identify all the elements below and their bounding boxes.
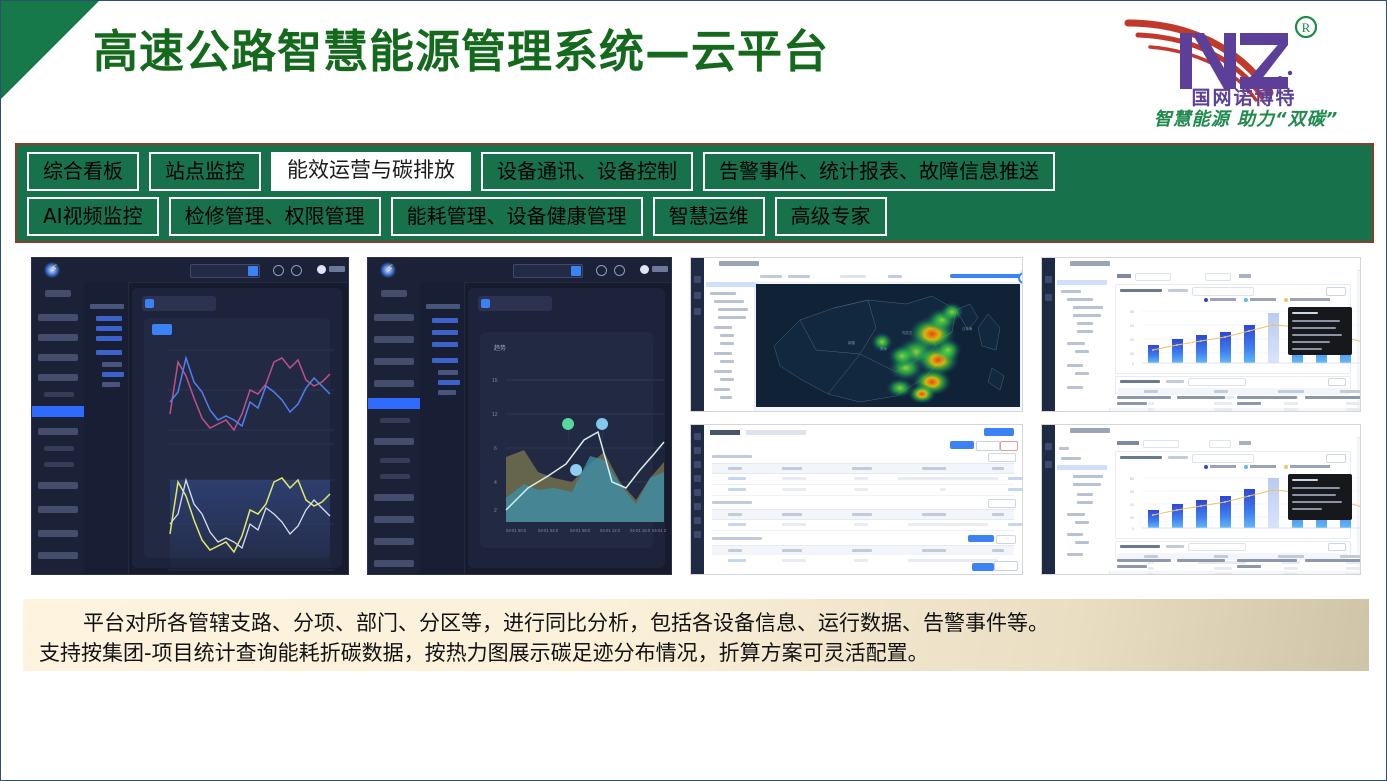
sidebar-item-4[interactable] xyxy=(38,374,78,381)
chart-export-button[interactable] xyxy=(1326,287,1346,296)
company-logo: R 国网诺博特 智慧能源 助力“双碳” xyxy=(1120,5,1370,131)
chart-legend xyxy=(1204,298,1344,302)
svg-text:04-01 2: 04-01 2 xyxy=(652,528,667,533)
slide-root: 高速公路智慧能源管理系统—云平台 R xyxy=(0,0,1387,781)
sidebar-subitem-2[interactable] xyxy=(44,446,74,451)
bar-top-rail xyxy=(1042,258,1055,411)
bolt-icon: ⚡ xyxy=(386,264,394,275)
table-title xyxy=(710,430,740,435)
svg-text:80: 80 xyxy=(1130,477,1134,481)
bar-top-body: 8060 40200 xyxy=(1109,270,1357,408)
svg-text:60: 60 xyxy=(1130,490,1134,494)
dash2-search-input[interactable] xyxy=(513,264,583,278)
tree-l13[interactable] xyxy=(720,396,732,399)
dash2-sidebar xyxy=(368,282,421,574)
dash2-content-tab[interactable] xyxy=(478,296,552,311)
tree-l9[interactable] xyxy=(720,360,734,363)
nav-tab-smart-ops[interactable]: 智慧运维 xyxy=(653,197,765,236)
svg-text:2: 2 xyxy=(494,508,497,514)
screenshot-energy-bar-top[interactable]: 8060 40200 xyxy=(1041,257,1361,412)
detail-table-card xyxy=(1115,376,1351,394)
sidebar-subitem-3[interactable] xyxy=(44,462,74,467)
nav-tab-ai-video-monitoring[interactable]: AI视频监控 xyxy=(27,197,159,236)
map-toolbar xyxy=(754,270,1020,283)
screenshot-energy-bar-bottom[interactable]: 8060 40200 xyxy=(1041,424,1361,575)
tree-leaf-selected[interactable] xyxy=(438,380,460,385)
footer-close[interactable] xyxy=(994,561,1018,571)
svg-text:04-01 04:0: 04-01 04:0 xyxy=(538,528,559,533)
map-site-tree xyxy=(704,270,755,411)
bar-top-title xyxy=(1070,261,1110,266)
svg-text:60: 60 xyxy=(1130,324,1134,328)
rail-icon-3 xyxy=(694,308,701,315)
svg-text:内蒙古: 内蒙古 xyxy=(902,330,913,335)
sidebar-item-1[interactable] xyxy=(38,314,78,321)
table-row[interactable] xyxy=(712,485,1014,496)
bar-bottom-title xyxy=(1070,428,1110,433)
nav-tab-energy-efficiency-carbon[interactable]: 能效运营与碳排放 xyxy=(271,152,471,191)
tree-l4[interactable] xyxy=(1073,483,1101,486)
filter-select-2[interactable] xyxy=(1209,440,1231,448)
avatar[interactable] xyxy=(640,265,649,274)
search-icon[interactable] xyxy=(273,265,284,276)
svg-text:15: 15 xyxy=(492,378,498,384)
dash2-device-tree xyxy=(420,282,465,574)
chart-export-button[interactable] xyxy=(1326,454,1346,463)
tree-l5[interactable] xyxy=(1077,322,1093,325)
sidebar-subitem-3[interactable] xyxy=(380,474,410,479)
tree-l7[interactable] xyxy=(1067,342,1085,345)
nav-tab-device-comm-control[interactable]: 设备通讯、设备控制 xyxy=(481,152,693,191)
filter-label xyxy=(1117,441,1139,445)
tree-leaf-1[interactable] xyxy=(102,362,122,367)
bar-chart-card: 8060 40200 xyxy=(1115,284,1351,374)
table-header-row xyxy=(712,545,1014,555)
svg-text:20: 20 xyxy=(1130,352,1134,356)
dash2-topbar: ⚡ xyxy=(368,258,671,283)
caption-line-1: 平台对所各管辖支路、分项、部门、分区等，进行同比分析，包括各设备信息、运行数据、… xyxy=(39,608,1353,638)
map-slider-track[interactable] xyxy=(950,274,1023,278)
sidebar-item-8[interactable] xyxy=(38,530,78,537)
summary-footer xyxy=(1117,396,1349,406)
dash-username xyxy=(329,266,345,272)
search-icon[interactable] xyxy=(596,265,607,276)
sidebar-item-7[interactable] xyxy=(374,516,414,523)
screenshot-gallery: ⚡ xyxy=(31,257,1361,582)
svg-text:0: 0 xyxy=(1132,362,1134,366)
avatar[interactable] xyxy=(317,265,326,274)
sidebar-item-6[interactable] xyxy=(38,482,78,489)
tree-node-3[interactable] xyxy=(432,342,458,347)
detail-table-card xyxy=(1115,541,1351,557)
tree-node-2[interactable] xyxy=(96,326,122,331)
line-chart-upper xyxy=(144,340,344,460)
tree-l6[interactable] xyxy=(1077,501,1093,504)
group3-query[interactable] xyxy=(968,535,994,542)
btn-cancel[interactable] xyxy=(976,441,1000,451)
rail-icon-3 xyxy=(694,461,701,468)
filter-label xyxy=(1117,274,1131,278)
sidebar-item-2[interactable] xyxy=(38,334,78,341)
sidebar-item-selected[interactable] xyxy=(32,406,84,417)
tree-l10[interactable] xyxy=(1075,541,1089,544)
corner-stripe-bottom-right xyxy=(1288,704,1380,774)
tree-l12[interactable] xyxy=(714,388,730,391)
nav-row-2: AI视频监控 检修管理、权限管理 能耗管理、设备健康管理 智慧运维 高级专家 xyxy=(23,197,1366,236)
sidebar-item-6[interactable] xyxy=(374,494,414,501)
tree-l8[interactable] xyxy=(1075,350,1089,353)
tree-selected[interactable] xyxy=(1057,465,1107,470)
tree-l8[interactable] xyxy=(1075,521,1089,524)
sidebar-item-5[interactable] xyxy=(38,428,78,435)
caption-box: 平台对所各管辖支路、分项、部门、分区等，进行同比分析，包括各设备信息、运行数据、… xyxy=(23,599,1369,671)
map-title xyxy=(719,261,759,266)
rail-icon-1 xyxy=(694,276,701,283)
dash-device-tree xyxy=(84,282,129,574)
svg-text:4: 4 xyxy=(494,480,497,486)
svg-text:青海: 青海 xyxy=(880,346,887,351)
svg-text:80: 80 xyxy=(1130,310,1134,314)
tree-l5[interactable] xyxy=(714,326,732,329)
sidebar-item-5[interactable] xyxy=(374,438,414,445)
tree-node-2[interactable] xyxy=(432,330,458,335)
screenshot-carbon-heatmap[interactable]: 新疆青海 内蒙古日本海 xyxy=(690,257,1023,412)
tree-l11[interactable] xyxy=(1067,553,1083,556)
filter-select-2[interactable] xyxy=(1205,273,1231,281)
table-primary-button[interactable] xyxy=(984,428,1014,436)
table-search-input[interactable] xyxy=(1188,378,1246,386)
tree-node-4[interactable] xyxy=(96,350,122,355)
summary-footer xyxy=(1117,559,1349,569)
bolt-icon: ⚡ xyxy=(50,264,58,275)
svg-text:04-01 12:0: 04-01 12:0 xyxy=(600,528,621,533)
rail-icon-2 xyxy=(694,292,701,299)
tree-root[interactable] xyxy=(426,304,460,309)
chart-search-input[interactable] xyxy=(1192,287,1254,296)
chart-search-input[interactable] xyxy=(1192,454,1254,463)
dash-search-input[interactable] xyxy=(190,264,260,278)
sidebar-item-4[interactable] xyxy=(374,380,414,387)
chart-tooltip xyxy=(1288,307,1352,355)
svg-text:0: 0 xyxy=(1132,527,1134,531)
sidebar-subitem-1[interactable] xyxy=(44,392,74,397)
svg-text:趋势: 趋势 xyxy=(494,344,506,352)
rail-icon-4 xyxy=(694,475,701,482)
china-heatmap[interactable]: 新疆青海 内蒙古日本海 xyxy=(756,284,1020,407)
table-row[interactable] xyxy=(712,520,1014,531)
table-panel xyxy=(704,425,1022,574)
filter-label-2 xyxy=(1239,274,1251,278)
filter-label-2 xyxy=(1239,441,1251,445)
rail-icon-7 xyxy=(694,517,701,524)
tree-l7[interactable] xyxy=(1067,513,1085,516)
bar-bottom-rail xyxy=(1042,425,1055,574)
table-search-input[interactable] xyxy=(1188,543,1246,551)
tree-l3[interactable] xyxy=(718,308,748,311)
tree-l9[interactable] xyxy=(1067,364,1083,367)
rail-icon-2 xyxy=(1045,461,1052,468)
bell-icon[interactable] xyxy=(291,265,302,276)
sidebar-item-3[interactable] xyxy=(38,354,78,361)
btn-save[interactable] xyxy=(950,441,974,449)
tree-l3[interactable] xyxy=(1073,475,1103,478)
tree-l1[interactable] xyxy=(1061,290,1081,293)
tree-l11[interactable] xyxy=(720,378,734,381)
dash-topbar: ⚡ xyxy=(32,258,348,283)
tree-leaf-selected[interactable] xyxy=(102,372,124,377)
tree-node-1[interactable] xyxy=(96,316,122,321)
nav-tab-comprehensive-board[interactable]: 综合看板 xyxy=(27,152,139,191)
bar-chart-card: 8060 40200 xyxy=(1115,451,1351,539)
bar-top-tree xyxy=(1055,270,1110,411)
tree-selected[interactable] xyxy=(706,282,758,287)
logo-slogan: 智慧能源 助力“双碳” xyxy=(1126,105,1366,131)
map-slider-handle[interactable] xyxy=(1018,272,1023,284)
sidebar-item-8[interactable] xyxy=(374,538,414,545)
caption-line-2: 支持按集团-项目统计查询能耗折碳数据，按热力图展示碳足迹分布情况，折算方案可灵活… xyxy=(39,638,1353,668)
sidebar-item-7[interactable] xyxy=(38,506,78,513)
tree-leaf-2[interactable] xyxy=(438,390,456,395)
dash-chart-card xyxy=(144,318,330,558)
rail-icon-2 xyxy=(694,447,701,454)
screenshot-dark-dashboard-lines[interactable]: ⚡ xyxy=(31,257,349,575)
sidebar-subitem-1[interactable] xyxy=(380,418,410,423)
tree-l6[interactable] xyxy=(720,334,734,337)
rail-icon-2 xyxy=(1045,294,1052,301)
area-chart-carbon: 趋势 1512 64 2 xyxy=(480,332,672,546)
nav-tab-alarm-report-fault[interactable]: 告警事件、统计报表、故障信息推送 xyxy=(703,152,1055,191)
dash-sidebar xyxy=(32,282,85,574)
table-left-rail xyxy=(691,425,704,574)
tree-l1[interactable] xyxy=(1061,457,1081,460)
svg-text:40: 40 xyxy=(1130,338,1134,342)
tree-node-3[interactable] xyxy=(96,336,122,341)
rail-icon-5 xyxy=(694,489,701,496)
detail-table-header xyxy=(1118,388,1348,395)
tree-l9[interactable] xyxy=(1067,533,1083,536)
tree-l3[interactable] xyxy=(1073,306,1103,309)
group2-add[interactable] xyxy=(988,499,1016,508)
table-row[interactable] xyxy=(712,474,1014,485)
nav-tab-energy-device-health[interactable]: 能耗管理、设备健康管理 xyxy=(391,197,643,236)
tree-root[interactable] xyxy=(90,304,124,309)
svg-text:40: 40 xyxy=(1130,503,1134,507)
tree-l4[interactable] xyxy=(1073,314,1101,317)
svg-text:04-01 00:0: 04-01 00:0 xyxy=(506,528,527,533)
tree-l4[interactable] xyxy=(718,316,746,319)
screenshot-col-bars: 8060 40200 xyxy=(1041,257,1361,582)
screenshot-col-map-table: 新疆青海 内蒙古日本海 xyxy=(690,257,1023,582)
rail-icon-8 xyxy=(694,531,701,538)
sidebar-item-selected[interactable] xyxy=(368,398,420,409)
tree-l8[interactable] xyxy=(714,352,732,355)
bar-bottom-tree xyxy=(1055,437,1110,574)
nav-band: 综合看板 站点监控 能效运营与碳排放 设备通讯、设备控制 告警事件、统计报表、故… xyxy=(15,143,1374,243)
tree-l0[interactable] xyxy=(1059,447,1069,450)
tree-l10[interactable] xyxy=(714,370,732,373)
table-row[interactable] xyxy=(1118,408,1348,412)
map-left-rail xyxy=(691,258,704,411)
slide-header: 高速公路智慧能源管理系统—云平台 R xyxy=(1,1,1387,131)
table-export-button[interactable] xyxy=(1328,543,1346,551)
nav-tab-senior-expert[interactable]: 高级专家 xyxy=(775,197,887,236)
bell-icon[interactable] xyxy=(614,265,625,276)
dash2-username xyxy=(652,266,668,272)
rail-icon-1 xyxy=(1045,276,1052,283)
tree-l11[interactable] xyxy=(1067,386,1083,389)
dash2-content: 趋势 1512 64 2 xyxy=(468,288,665,568)
tree-l10[interactable] xyxy=(1075,372,1089,375)
sidebar-item-10[interactable] xyxy=(38,574,78,575)
svg-text:新疆: 新疆 xyxy=(848,340,855,345)
tree-l1[interactable] xyxy=(710,292,736,295)
chart-tooltip xyxy=(1288,474,1352,520)
rail-icon-1 xyxy=(694,433,701,440)
sidebar-item-9[interactable] xyxy=(38,552,78,559)
chart-toggle-button[interactable] xyxy=(152,324,172,335)
table-row[interactable] xyxy=(1118,573,1348,575)
svg-text:20: 20 xyxy=(1130,516,1134,520)
group1-add[interactable] xyxy=(988,453,1016,462)
rail-icon-1 xyxy=(1045,443,1052,450)
group3-reset[interactable] xyxy=(996,535,1016,544)
tree-node-1[interactable] xyxy=(432,318,458,323)
svg-text:6: 6 xyxy=(494,446,497,452)
sidebar-item-home[interactable] xyxy=(45,290,71,297)
sidebar-item-9[interactable] xyxy=(374,560,414,567)
tree-l6[interactable] xyxy=(1077,330,1093,333)
svg-text:日本海: 日本海 xyxy=(962,326,973,331)
dash-content-tab[interactable] xyxy=(142,296,216,311)
footer-confirm[interactable] xyxy=(972,563,994,571)
table-header-row xyxy=(712,509,1014,520)
sidebar-item-3[interactable] xyxy=(374,358,414,365)
svg-text:12: 12 xyxy=(492,412,498,418)
tree-l2[interactable] xyxy=(1067,298,1093,301)
tree-l2[interactable] xyxy=(714,300,744,303)
table-filter-input[interactable] xyxy=(746,430,806,435)
tree-node-4[interactable] xyxy=(432,358,458,363)
sidebar-item-home[interactable] xyxy=(381,290,407,297)
screenshot-dark-dashboard-area[interactable]: ⚡ xyxy=(367,257,672,575)
dash-content xyxy=(132,288,342,568)
filter-select-1[interactable] xyxy=(1135,273,1171,281)
tree-leaf-1[interactable] xyxy=(438,370,458,375)
tree-leaf-2[interactable] xyxy=(102,382,120,387)
nav-tab-maintenance-permission[interactable]: 检修管理、权限管理 xyxy=(169,197,381,236)
screenshot-device-alarm-table[interactable] xyxy=(690,424,1023,575)
chart-legend xyxy=(1204,465,1344,469)
tree-l7[interactable] xyxy=(720,342,734,345)
svg-text:R: R xyxy=(1302,20,1311,35)
btn-delete[interactable] xyxy=(1000,441,1018,451)
sidebar-item-1[interactable] xyxy=(374,314,414,321)
nav-row-1: 综合看板 站点监控 能效运营与碳排放 设备通讯、设备控制 告警事件、统计报表、故… xyxy=(23,152,1366,191)
tree-selected[interactable] xyxy=(1057,280,1107,285)
rail-icon-6 xyxy=(694,503,701,510)
sidebar-subitem-2[interactable] xyxy=(380,458,410,463)
line-chart-lower xyxy=(144,466,344,575)
table-header-row xyxy=(712,463,1014,474)
nav-tab-site-monitoring[interactable]: 站点监控 xyxy=(149,152,261,191)
bar-bottom-body: 8060 40200 xyxy=(1109,437,1357,571)
table-export-button[interactable] xyxy=(1328,378,1346,386)
tree-l5[interactable] xyxy=(1077,493,1093,496)
svg-text:04-01 08:0: 04-01 08:0 xyxy=(570,528,591,533)
table-row[interactable] xyxy=(712,556,1014,565)
dash2-chart-card: 趋势 1512 64 2 xyxy=(480,332,653,548)
svg-text:04-01 16:0: 04-01 16:0 xyxy=(630,528,651,533)
sidebar-item-2[interactable] xyxy=(374,336,414,343)
filter-select-1[interactable] xyxy=(1143,440,1179,448)
page-title: 高速公路智慧能源管理系统—云平台 xyxy=(93,15,1053,80)
